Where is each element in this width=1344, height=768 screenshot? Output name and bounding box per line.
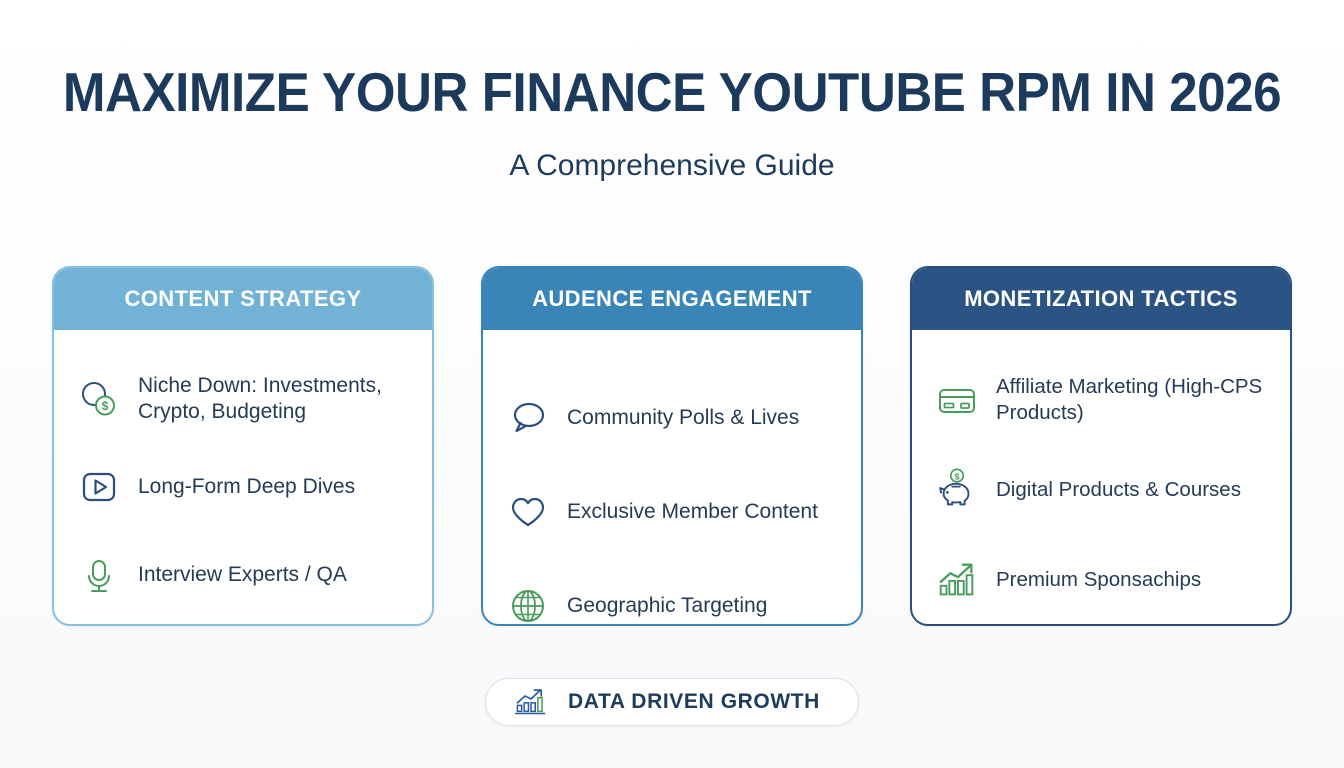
- svg-text:$: $: [955, 471, 960, 481]
- page-title: MAXIMIZE YOUR FINANCE YOUTUBE RPM IN 202…: [47, 62, 1297, 122]
- list-item[interactable]: Community Polls & Lives: [505, 374, 841, 462]
- microphone-icon: [76, 552, 122, 598]
- play-video-icon: [76, 464, 122, 510]
- card-header-content-strategy: CONTENT STRATEGY: [54, 268, 432, 330]
- list-item[interactable]: $ Digital Products & Courses: [934, 448, 1270, 532]
- page-subtitle: A Comprehensive Guide: [0, 148, 1344, 184]
- data-driven-growth-badge[interactable]: DATA DRIVEN GROWTH: [485, 678, 859, 726]
- list-item-label: Geographic Targeting: [567, 593, 767, 619]
- speech-bubble-icon: [505, 395, 551, 441]
- card-body-monetization-tactics: Affiliate Marketing (High-CPS Products) …: [912, 330, 1290, 626]
- card-header-audience-engagement: AUDENCE ENGAGEMENT: [483, 268, 861, 330]
- list-item[interactable]: Long-Form Deep Dives: [76, 446, 412, 528]
- list-item[interactable]: Affiliate Marketing (High-CPS Products): [934, 358, 1270, 442]
- heart-icon: [505, 489, 551, 535]
- list-item-label: Community Polls & Lives: [567, 405, 799, 431]
- list-item-label: Interview Experts / QA: [138, 562, 347, 588]
- card-body-content-strategy: $ Niche Down: Investments, Crypto, Budge…: [54, 330, 432, 626]
- list-item[interactable]: Geographic Targeting: [505, 562, 841, 626]
- list-item-label: Affiliate Marketing (High-CPS Products): [996, 374, 1270, 426]
- cards-row: CONTENT STRATEGY $ Niche Down: Investmen…: [52, 266, 1292, 626]
- list-item[interactable]: $ Niche Down: Investments, Crypto, Budge…: [76, 358, 412, 440]
- badge-label: DATA DRIVEN GROWTH: [568, 690, 820, 714]
- footer: DATA DRIVEN GROWTH: [0, 678, 1344, 726]
- list-item-label: Digital Products & Courses: [996, 477, 1241, 503]
- coins-dollar-icon: $: [76, 376, 122, 422]
- list-item-label: Exclusive Member Content: [567, 499, 818, 525]
- growth-chart-icon: [514, 686, 548, 718]
- card-header-monetization-tactics: MONETIZATION TACTICS: [912, 268, 1290, 330]
- header: MAXIMIZE YOUR FINANCE YOUTUBE RPM IN 202…: [0, 62, 1344, 184]
- globe-icon: [505, 583, 551, 626]
- card-content-strategy[interactable]: CONTENT STRATEGY $ Niche Down: Investmen…: [52, 266, 434, 626]
- list-item-label: Premium Sponsachips: [996, 567, 1201, 593]
- growth-chart-icon: [934, 557, 980, 603]
- list-item[interactable]: Exclusive Member Content: [505, 468, 841, 556]
- list-item-label: Long-Form Deep Dives: [138, 474, 355, 500]
- card-monetization-tactics[interactable]: MONETIZATION TACTICS Affiliate Marketing…: [910, 266, 1292, 626]
- list-item-label: Niche Down: Investments, Crypto, Budgeti…: [138, 373, 412, 425]
- card-body-audience-engagement: Community Polls & Lives Exclusive Member…: [483, 330, 861, 626]
- piggy-bank-icon: $: [934, 467, 980, 513]
- card-audience-engagement[interactable]: AUDENCE ENGAGEMENT Community Polls & Liv…: [481, 266, 863, 626]
- infographic-page: MAXIMIZE YOUR FINANCE YOUTUBE RPM IN 202…: [0, 0, 1344, 768]
- list-item[interactable]: Interview Experts / QA: [76, 534, 412, 616]
- list-item[interactable]: Premium Sponsachips: [934, 538, 1270, 622]
- svg-text:$: $: [102, 399, 109, 413]
- credit-card-icon: [934, 377, 980, 423]
